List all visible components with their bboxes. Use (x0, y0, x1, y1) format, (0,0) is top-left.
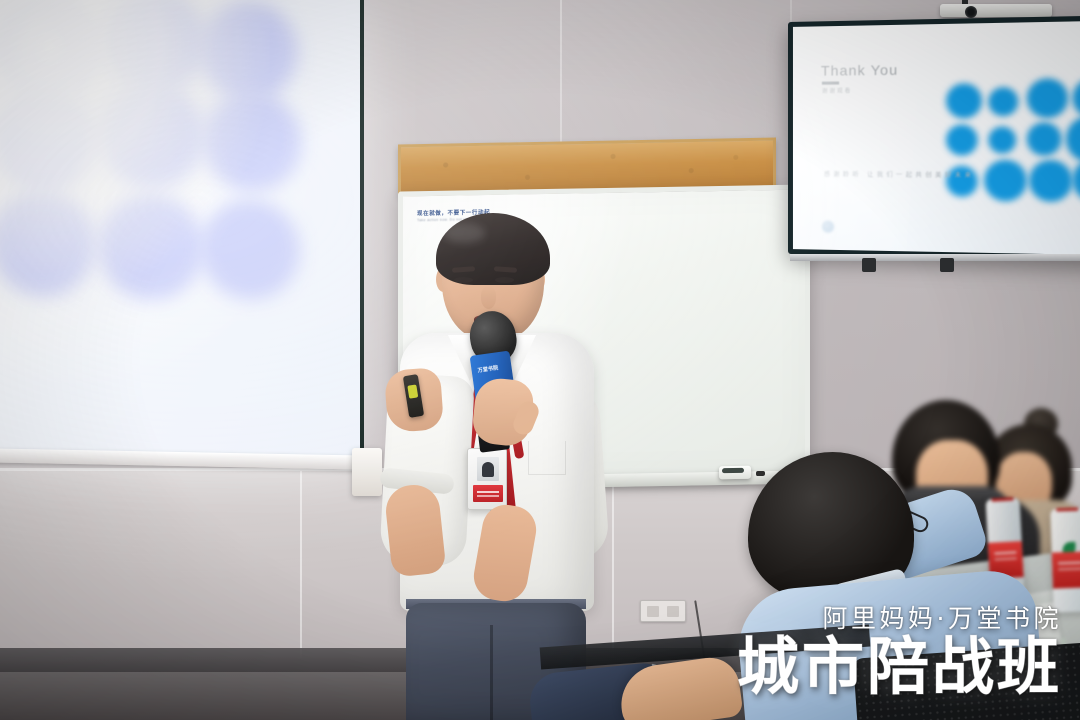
projection-circle (198, 0, 298, 102)
projection-circle (0, 188, 96, 296)
slide-midline: 感谢聆听 让我们一起共创美好未来 (824, 169, 975, 179)
presenter-shirt-pocket (528, 441, 566, 475)
badge-photo (477, 457, 499, 481)
slide-circle-grid (793, 21, 1080, 27)
slide-circle (946, 83, 982, 118)
video-camera-bar (940, 4, 1052, 17)
monitor-glare (793, 21, 927, 255)
projection-circle (0, 84, 96, 190)
projection-slide (0, 0, 360, 462)
bottle-cap (1056, 507, 1079, 511)
slide-circle (1066, 116, 1080, 163)
presenter: 万堂书院 (378, 205, 628, 720)
wall-monitor: Thank You 谢谢观看 感谢聆听 让我们一起共创美好未来 (788, 16, 1080, 261)
presenter-nose (481, 287, 496, 309)
slide-circle (1027, 122, 1062, 156)
bottle-cap (991, 497, 1014, 501)
bottle-label (1052, 551, 1080, 588)
presenter-hair (436, 213, 550, 285)
microphone-logo-label: 万堂书院 (477, 363, 508, 374)
brand-logo-icon (822, 220, 834, 232)
slide-circle (984, 160, 1027, 202)
slide-title: Thank You (821, 62, 898, 79)
slide-circle (1027, 78, 1068, 118)
presenter-eye (454, 277, 473, 283)
photo-canvas: 现在就做，不要下一行动起 Take action now. Do not wai… (0, 0, 1080, 720)
presenter-eye (495, 277, 514, 283)
slide-subtitle: 谢谢观看 (822, 86, 852, 94)
projection-screen (0, 0, 364, 466)
camera-lens-icon (965, 6, 977, 18)
projection-circle (98, 193, 204, 301)
slide-rule (822, 81, 839, 84)
monitor-foot (940, 258, 954, 272)
whiteboard-marker (756, 471, 765, 476)
monitor-foot (862, 258, 876, 272)
whiteboard-eraser (719, 466, 751, 480)
slide-circle (988, 127, 1016, 154)
slide-circle (1029, 160, 1072, 202)
projection-circle (102, 0, 206, 95)
slide-circle (1072, 158, 1080, 203)
power-outlet-icon (640, 600, 686, 622)
water-bottle (1050, 507, 1080, 612)
projection-circle (202, 91, 302, 193)
monitor-slide: Thank You 谢谢观看 感谢聆听 让我们一起共创美好未来 (793, 21, 1080, 255)
slide-circle (1072, 78, 1080, 118)
badge-name-band (473, 485, 503, 502)
monitor-base (790, 254, 1080, 261)
projection-circle (98, 81, 204, 189)
slide-circle (946, 125, 978, 156)
slide-circle (988, 87, 1018, 116)
projection-circle (200, 198, 300, 300)
id-badge (467, 448, 507, 510)
